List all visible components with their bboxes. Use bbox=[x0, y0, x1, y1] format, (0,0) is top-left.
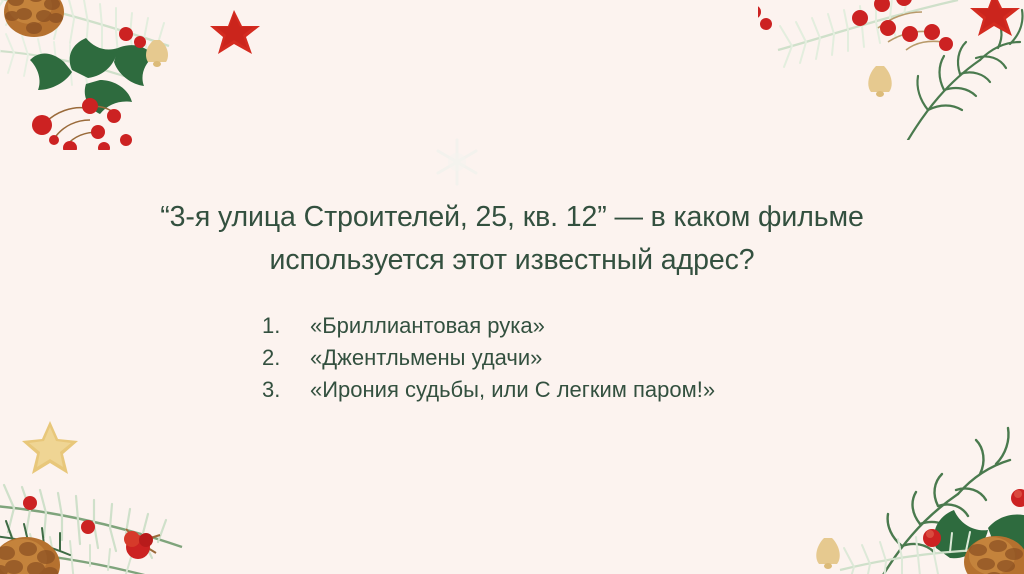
list-item[interactable]: 3. «Ирония судьбы, или С легким паром!» bbox=[262, 374, 902, 406]
list-item-label: «Бриллиантовая рука» bbox=[310, 310, 902, 342]
list-item[interactable]: 1. «Бриллиантовая рука» bbox=[262, 310, 902, 342]
list-item-label: «Ирония судьбы, или С легким паром!» bbox=[310, 374, 902, 406]
list-item-number: 2. bbox=[262, 342, 310, 374]
list-item-number: 3. bbox=[262, 374, 310, 406]
slide-content: “3-я улица Строителей, 25, кв. 12” — в к… bbox=[0, 0, 1024, 574]
list-item[interactable]: 2. «Джентльмены удачи» bbox=[262, 342, 902, 374]
list-item-number: 1. bbox=[262, 310, 310, 342]
slide-canvas: “3-я улица Строителей, 25, кв. 12” — в к… bbox=[0, 0, 1024, 574]
page-title: “3-я улица Строителей, 25, кв. 12” — в к… bbox=[112, 196, 912, 282]
list-item-label: «Джентльмены удачи» bbox=[310, 342, 902, 374]
answer-list: 1. «Бриллиантовая рука» 2. «Джентльмены … bbox=[262, 310, 902, 406]
